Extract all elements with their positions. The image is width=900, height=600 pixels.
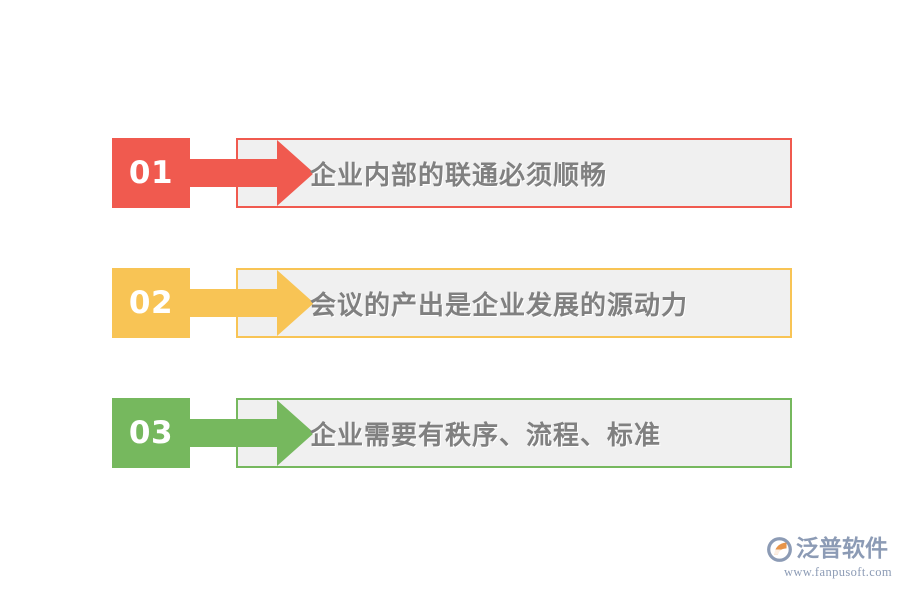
step-number-badge: 01 — [112, 138, 190, 208]
arrow-right-icon — [182, 264, 307, 342]
list-item: 02 会议的产出是企业发展的源动力 — [112, 264, 794, 342]
logo-name-label: 泛普软件 — [796, 538, 888, 561]
list-item: 03 企业需要有秩序、流程、标准 — [112, 394, 794, 472]
logo-row: 泛普软件 — [766, 534, 892, 564]
infographic-container: 01 企业内部的联通必须顺畅 02 会议的产出是企业发展的源动力 03 企业需要… — [0, 0, 900, 600]
step-text-label: 企业需要有秩序、流程、标准 — [310, 394, 661, 472]
step-number-label: 01 — [129, 158, 173, 189]
step-text-label: 企业内部的联通必须顺畅 — [310, 134, 607, 212]
logo-url-label: www.fanpusoft.com — [766, 565, 892, 580]
brand-logo: 泛普软件 www.fanpusoft.com — [766, 534, 892, 582]
arrow-right-icon — [182, 134, 307, 212]
step-number-badge: 03 — [112, 398, 190, 468]
fanpu-logo-icon — [766, 536, 793, 563]
list-item: 01 企业内部的联通必须顺畅 — [112, 134, 794, 212]
step-number-badge: 02 — [112, 268, 190, 338]
step-text-label: 会议的产出是企业发展的源动力 — [310, 264, 688, 342]
step-number-label: 03 — [129, 418, 173, 449]
step-number-label: 02 — [129, 288, 173, 319]
arrow-right-icon — [182, 394, 307, 472]
